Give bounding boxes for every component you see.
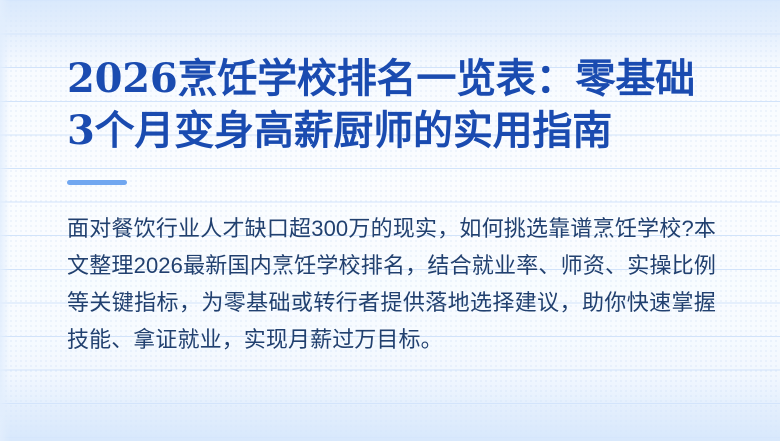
article-summary: 面对餐饮行业人才缺口超300万的现实，如何挑选靠谱烹饪学校?本文整理2026最新… [67, 185, 716, 358]
article-content: 2026烹饪学校排名一览表：零基础 3个月变身高薪厨师的实用指南 面对餐饮行业人… [0, 0, 780, 441]
article-poster: 2026烹饪学校排名一览表：零基础 3个月变身高薪厨师的实用指南 面对餐饮行业人… [0, 0, 780, 441]
article-headline: 2026烹饪学校排名一览表：零基础 3个月变身高薪厨师的实用指南 [67, 0, 716, 157]
